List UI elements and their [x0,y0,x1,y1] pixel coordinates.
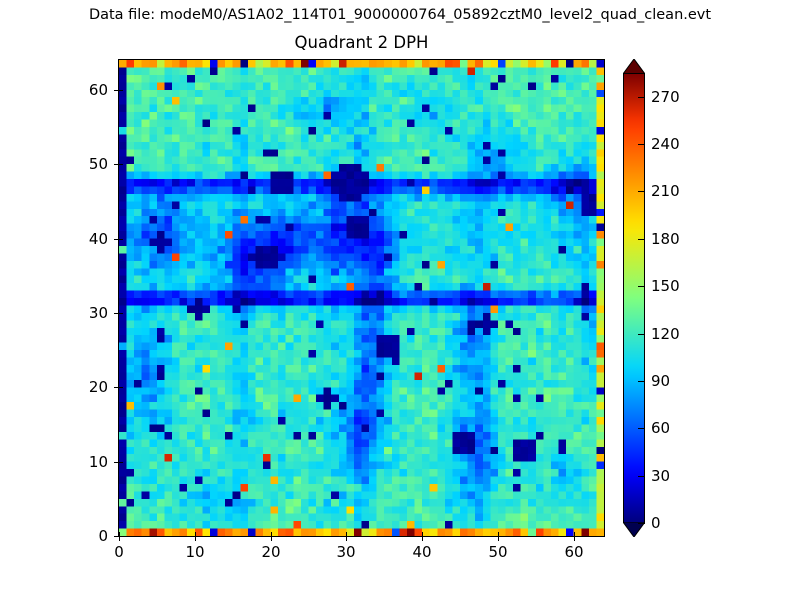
y-tick-mark [114,536,118,537]
triangle-up-icon [623,59,645,74]
colorbar-gradient [624,74,644,522]
colorbar-tick-mark [638,239,645,240]
y-tick-mark [114,164,118,165]
colorbar-tick-label: 270 [651,88,680,106]
y-tick-mark-inner [119,536,123,537]
colorbar-tick-label: 60 [651,419,670,437]
x-tick-mark-inner [346,532,347,536]
colorbar-tick-mark [638,334,645,335]
colorbar-tick-label: 180 [651,230,680,248]
colorbar-gradient-box [623,73,645,523]
heatmap-axes [118,59,605,537]
x-tick-mark [346,537,347,541]
y-tick-mark-inner [119,164,123,165]
x-tick-mark [498,537,499,541]
colorbar-tick-mark [638,381,645,382]
x-tick-label: 50 [468,543,528,561]
x-tick-mark-inner [195,532,196,536]
x-tick-label: 20 [241,543,301,561]
x-tick-label: 10 [165,543,225,561]
colorbar-tick-label: 210 [651,182,680,200]
colorbar-tick-label: 120 [651,325,680,343]
heatmap-image [119,60,604,536]
y-tick-label: 10 [66,453,108,471]
x-tick-mark [271,537,272,541]
y-tick-mark-inner [119,239,123,240]
colorbar-tick-mark [638,286,645,287]
x-tick-mark [422,537,423,541]
colorbar-tick-mark [638,476,645,477]
colorbar-tick-label: 30 [651,467,670,485]
x-tick-mark-inner [498,532,499,536]
y-tick-label: 60 [66,81,108,99]
colorbar-tick-label: 0 [651,514,661,532]
colorbar-tick-mark [638,191,645,192]
y-tick-mark-inner [119,387,123,388]
colorbar-tick-label: 150 [651,277,680,295]
x-tick-label: 30 [316,543,376,561]
y-tick-mark [114,313,118,314]
y-tick-label: 20 [66,378,108,396]
x-tick-label: 40 [392,543,452,561]
x-tick-label: 60 [544,543,604,561]
y-tick-mark [114,239,118,240]
x-tick-mark [574,537,575,541]
y-tick-mark [114,387,118,388]
datafile-suptitle: Data file: modeM0/AS1A02_114T01_90000007… [0,6,800,24]
colorbar-tick-mark [638,144,645,145]
matplotlib-figure: Data file: modeM0/AS1A02_114T01_90000007… [0,0,800,600]
colorbar-tick-label: 90 [651,372,670,390]
y-tick-label: 0 [66,527,108,545]
y-tick-label: 50 [66,155,108,173]
y-tick-mark-inner [119,313,123,314]
y-tick-mark [114,90,118,91]
triangle-down-icon [623,522,645,537]
x-tick-mark [195,537,196,541]
colorbar-tick-mark [638,523,645,524]
y-tick-mark-inner [119,462,123,463]
x-tick-label: 0 [89,543,149,561]
x-tick-mark-inner [422,532,423,536]
colorbar-tick-mark [638,428,645,429]
y-tick-label: 40 [66,230,108,248]
y-tick-label: 30 [66,304,108,322]
x-tick-mark-inner [574,532,575,536]
x-tick-mark-inner [271,532,272,536]
y-tick-mark [114,462,118,463]
page-title: Quadrant 2 DPH [118,33,605,53]
x-tick-mark [119,537,120,541]
y-tick-mark-inner [119,90,123,91]
colorbar: 0306090120150180210240270 [623,59,645,537]
colorbar-tick-label: 240 [651,135,680,153]
colorbar-tick-mark [638,97,645,98]
